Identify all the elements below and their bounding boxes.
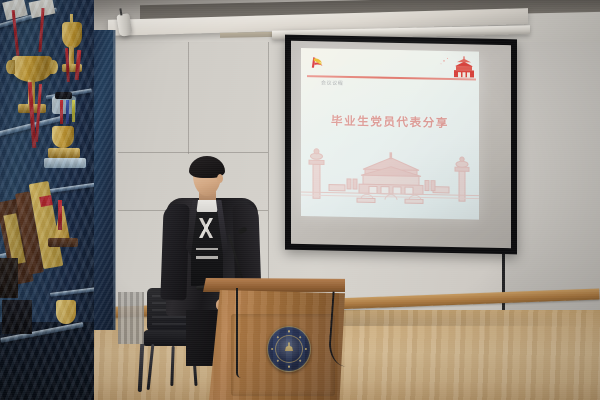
chair-leg bbox=[147, 344, 155, 390]
yellow-ribbon bbox=[72, 100, 75, 122]
gold-trophy-base bbox=[48, 148, 80, 158]
red-ribbon bbox=[60, 100, 63, 124]
small-gold-trophy bbox=[56, 300, 76, 324]
trophy-display-cabinet bbox=[0, 0, 94, 400]
glass-shelf bbox=[0, 238, 74, 260]
presenter-tshirt bbox=[191, 212, 223, 286]
award-banner bbox=[29, 0, 56, 18]
glass-shelf bbox=[50, 287, 94, 297]
tshirt-graphic-lower bbox=[196, 242, 218, 272]
cabinet-lower-dark bbox=[0, 322, 94, 400]
dark-box-object bbox=[2, 300, 32, 334]
red-ribbon bbox=[28, 82, 37, 148]
screenshot-root: 会议议程 毕业生党员代表分享 bbox=[0, 0, 600, 400]
presenter-ear bbox=[217, 174, 223, 183]
trophy-plinth bbox=[44, 158, 86, 168]
lectern-front-panel bbox=[231, 314, 335, 396]
wooden-award-plaque bbox=[15, 191, 44, 274]
small-trophy bbox=[54, 206, 70, 240]
trophy-handle-right bbox=[49, 60, 58, 74]
lectern-surface bbox=[203, 278, 345, 292]
award-banner bbox=[2, 0, 28, 20]
slide-header-label: 会议议程 bbox=[321, 79, 343, 86]
gold-trophy-cup bbox=[62, 22, 82, 48]
trophy-wood-base bbox=[48, 238, 78, 247]
glass-shelf bbox=[46, 88, 92, 99]
large-gold-trophy-bowl bbox=[12, 56, 52, 82]
large-gold-trophy-base bbox=[18, 104, 46, 113]
microphone-cable bbox=[236, 288, 241, 378]
projected-slide: 会议议程 毕业生党员代表分享 bbox=[301, 48, 479, 220]
wall-radiator bbox=[118, 292, 144, 344]
plaque-gold-plate bbox=[3, 213, 25, 265]
tiananmen-red-graphic bbox=[434, 56, 476, 79]
red-ribbon bbox=[12, 10, 20, 56]
presenter-arm-left bbox=[160, 204, 189, 301]
seal-center-glyph bbox=[283, 342, 296, 356]
blue-ribbon bbox=[66, 100, 69, 124]
plaque-red-seal bbox=[39, 195, 53, 207]
gold-trophy-stem bbox=[69, 46, 74, 66]
slide-title: 毕业生党员代表分享 bbox=[301, 112, 479, 132]
trophy-handle-left bbox=[6, 60, 15, 74]
glass-shelf bbox=[48, 183, 94, 194]
gold-trophy-cup bbox=[52, 126, 74, 148]
silver-trophy-body bbox=[52, 96, 76, 114]
projection-screen: 会议议程 毕业生党员代表分享 bbox=[285, 35, 517, 255]
glass-shelf bbox=[0, 116, 64, 138]
trophy-top-dark bbox=[55, 92, 72, 99]
dark-box-object bbox=[0, 258, 18, 298]
large-gold-trophy-stem bbox=[28, 80, 35, 106]
wall-panel-seam bbox=[268, 36, 269, 286]
red-ribbon bbox=[75, 50, 82, 80]
glass-shelf bbox=[0, 8, 57, 29]
lectern-body bbox=[209, 290, 345, 400]
red-ribbon bbox=[38, 8, 44, 52]
wooden-award-plaque bbox=[0, 199, 34, 286]
cpc-party-emblem-icon bbox=[309, 54, 326, 71]
red-ribbon bbox=[35, 84, 42, 142]
tshirt-graphic bbox=[195, 218, 219, 238]
pillar-edge bbox=[113, 30, 116, 330]
tiananmen-line-art-illustration bbox=[301, 146, 479, 212]
institution-crest-seal bbox=[267, 326, 311, 372]
gold-trophy-base bbox=[62, 64, 82, 72]
right-wall bbox=[505, 0, 600, 330]
gold-trophy-finial bbox=[70, 14, 73, 23]
wall-panel-seam bbox=[188, 36, 189, 154]
seal-outer-ring-dots bbox=[269, 328, 309, 370]
projection-screen-surface: 会议议程 毕业生党员代表分享 bbox=[291, 41, 511, 248]
red-ribbon bbox=[58, 200, 62, 230]
seal-inner-ring bbox=[275, 335, 303, 363]
plaque-gold-plate bbox=[29, 181, 64, 269]
chair-leg bbox=[170, 346, 174, 386]
red-ribbon bbox=[65, 48, 70, 82]
chair-frame-rail bbox=[138, 344, 145, 392]
glass-shelf bbox=[0, 322, 83, 343]
wooden-lectern bbox=[203, 278, 345, 400]
